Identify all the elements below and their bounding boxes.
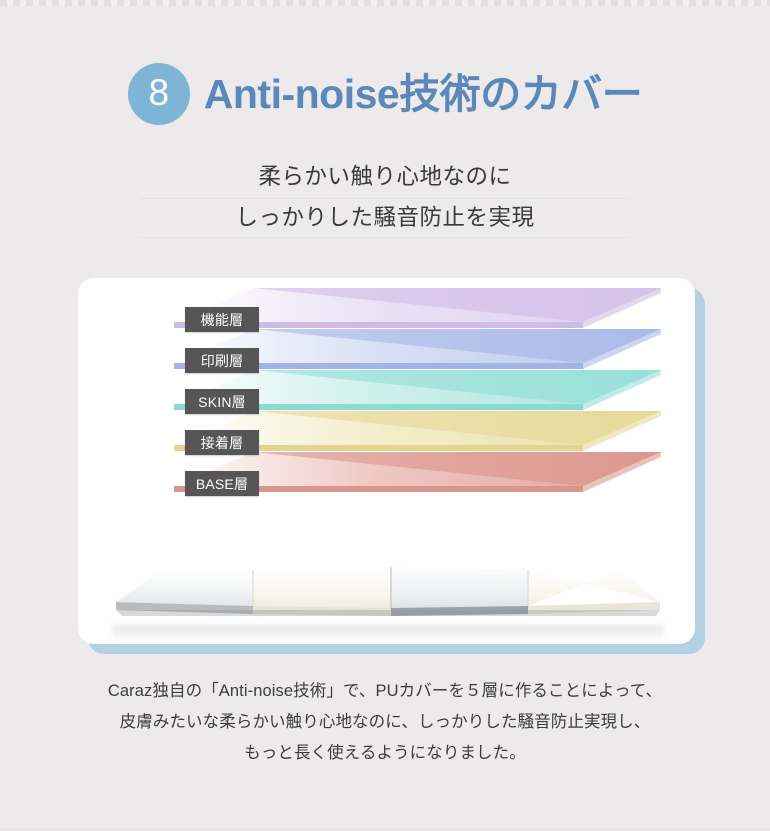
layer-tag-3: 接着層: [185, 430, 259, 455]
description-block: Caraz独自の「Anti-noise技術」で、PUカバーを５層に作ることによっ…: [0, 676, 770, 769]
subtitle-block: 柔らかい触り心地なのに しっかりした騒音防止を実現: [0, 152, 770, 238]
layer-tag-0: 機能層: [185, 307, 259, 332]
layer-tag-4: BASE層: [185, 471, 259, 496]
section-number: 8: [148, 74, 169, 114]
mat-reflection: [112, 625, 664, 641]
description-line-3: もっと長く使えるようになりました。: [0, 738, 770, 769]
layer-tag-2: SKIN層: [185, 389, 259, 414]
layer-tag-label-3: 接着層: [201, 436, 244, 450]
top-perforation-strip: [0, 0, 770, 6]
subtitle-divider-bottom: [140, 237, 630, 238]
subtitle-line-2: しっかりした騒音防止を実現: [0, 199, 770, 237]
layer-tag-label-1: 印刷層: [201, 354, 244, 368]
layer-tag-label-2: SKIN層: [198, 395, 246, 409]
layer-tag-1: 印刷層: [185, 348, 259, 373]
folded-play-mat: [108, 550, 668, 626]
section-header: 8 Anti-noise技術のカバー: [0, 56, 770, 132]
section-number-badge: 8: [128, 63, 190, 125]
description-line-2: 皮膚みたいな柔らかい触り心地なのに、しっかりした騒音防止実現し、: [0, 707, 770, 738]
description-line-1: Caraz独自の「Anti-noise技術」で、PUカバーを５層に作ることによっ…: [0, 676, 770, 707]
illustration-card: 機能層 印刷層 SKIN層 接着層 BASE層: [78, 278, 695, 644]
layer-tag-label-0: 機能層: [201, 313, 244, 327]
layer-slab-4: [78, 448, 695, 504]
page-title: Anti-noise技術のカバー: [204, 74, 642, 115]
subtitle-line-1: 柔らかい触り心地なのに: [0, 152, 770, 198]
layer-tag-label-4: BASE層: [196, 477, 248, 491]
